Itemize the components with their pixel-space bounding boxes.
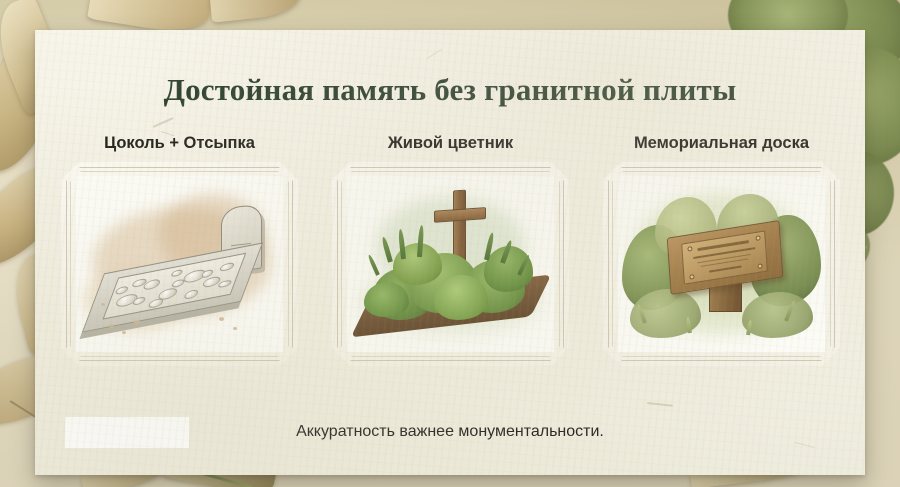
illustration-card-1[interactable] — [61, 162, 298, 366]
column-flowerbed: Живой цветник — [332, 134, 569, 366]
plaque-face — [681, 230, 768, 285]
column-heading-1: Цоколь + Отсыпка — [61, 134, 298, 153]
column-heading-3: Мемориальная доска — [603, 134, 840, 153]
column-heading-2: Живой цветник — [332, 134, 569, 153]
column-plinth: Цоколь + Отсыпка — [61, 134, 298, 366]
cross-flowerbed-illustration — [347, 176, 554, 352]
logo-placeholder — [65, 417, 189, 448]
illustration-card-2[interactable] — [332, 162, 569, 366]
column-plaque: Мемориальная доска — [603, 134, 840, 366]
page-title: Достойная память без гранитной плиты — [35, 72, 865, 108]
memorial-plaque-illustration — [618, 176, 825, 352]
illustration-card-3[interactable] — [603, 162, 840, 366]
grave-plinth-illustration — [76, 176, 283, 352]
slide-panel: Достойная память без гранитной плиты Цок… — [35, 30, 865, 475]
